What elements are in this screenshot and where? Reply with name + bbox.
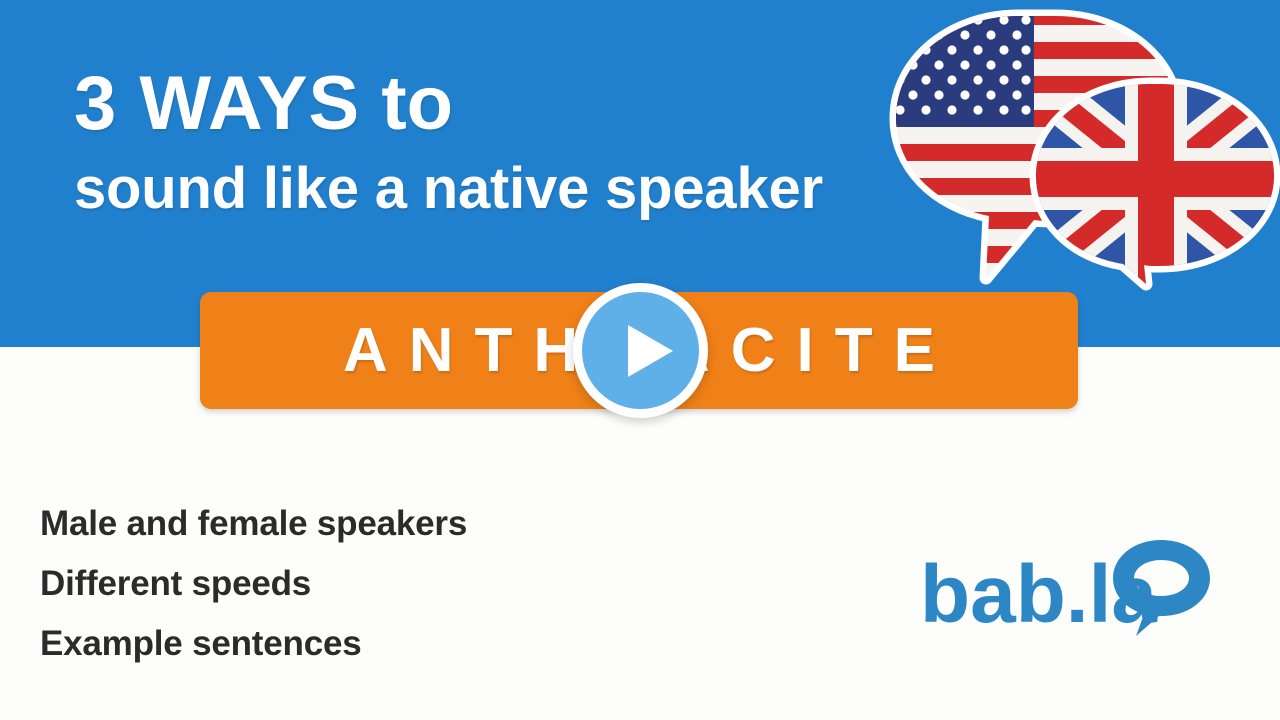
title-block: 3 WAYS to sound like a native speaker <box>74 62 914 222</box>
feature-item: Different speeds <box>40 554 800 614</box>
video-thumbnail-slide: 3 WAYS to sound like a native speaker <box>0 0 1280 720</box>
page-subtitle: sound like a native speaker <box>74 156 914 222</box>
feature-item: Example sentences <box>40 614 800 674</box>
feature-item: Male and female speakers <box>40 494 800 554</box>
title-suffix: to <box>360 61 453 146</box>
flag-speech-bubbles <box>886 8 1280 292</box>
play-button[interactable] <box>573 283 708 418</box>
play-triangle-icon <box>628 325 673 377</box>
title-number: 3 WAYS <box>74 61 360 146</box>
babla-logo[interactable]: bab.la <box>920 538 1210 648</box>
feature-list: Male and female speakers Different speed… <box>40 494 800 674</box>
page-title: 3 WAYS to <box>74 62 914 146</box>
